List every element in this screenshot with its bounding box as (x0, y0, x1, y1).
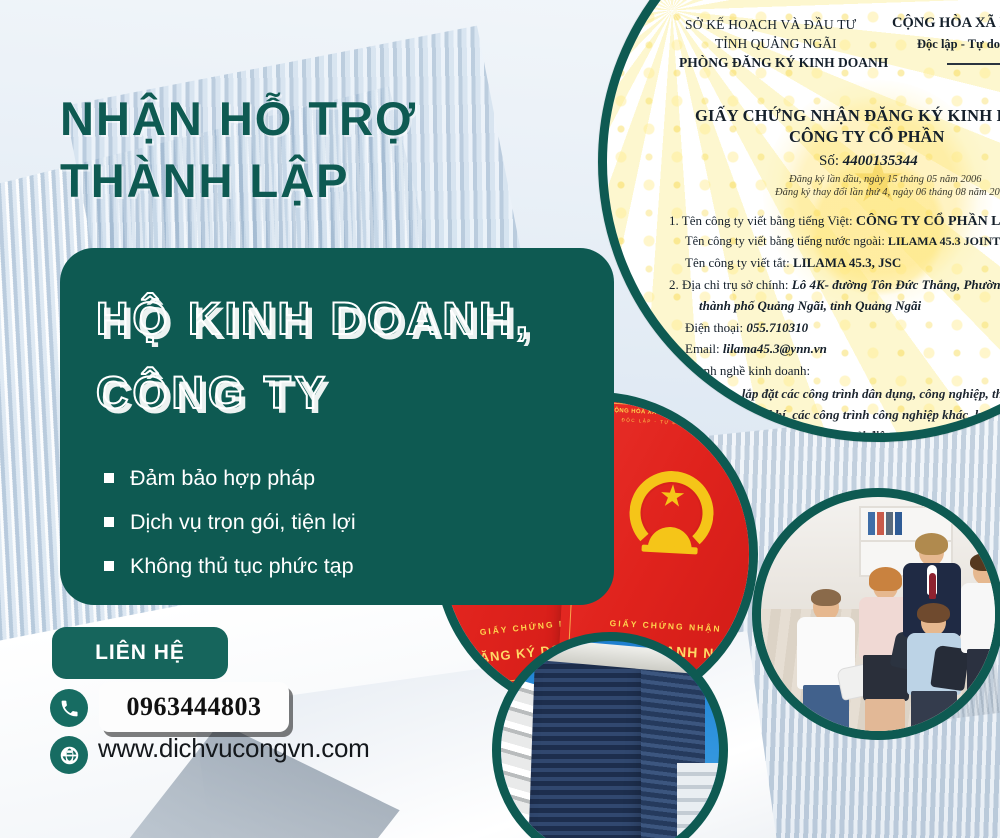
bullet-square-icon (104, 561, 114, 571)
certificate-item1b: Tên công ty viết bằng tiếng nước ngoài: … (685, 234, 1000, 249)
panel-title: HỘ KINH DOANH, CÔNG TY (96, 282, 532, 430)
certificate-item1: 1. Tên công ty viết bằng tiếng Việt: CÔN… (669, 213, 1000, 230)
certificate-title-line2: CÔNG TY CỔ PHẦN (789, 127, 944, 147)
certificate-item3-label: 3. Ngành nghề kinh doanh: (669, 363, 810, 379)
certificate-item2-value2: thành phố Quảng Ngãi, tỉnh Quảng Ngãi (699, 298, 921, 314)
panel-title-line-2: CÔNG TY (96, 356, 532, 430)
team-photo-circle (752, 488, 1000, 740)
tower-glass-facade (527, 655, 653, 838)
certificate-divider (947, 63, 1000, 65)
certificate-number: Số: 4400135344 (819, 153, 918, 170)
panel-title-line-1: HỘ KINH DOANH, (96, 282, 532, 356)
certificate-item1c: Tên công ty viết tắt: LILAMA 45.3, JSC (685, 255, 901, 271)
certificate-item2: 2. Địa chỉ trụ sở chính: Lô 4K- đường Tô… (669, 277, 1000, 293)
headline-line-2: THÀNH LẬP (60, 150, 417, 212)
headline-line-1: NHẬN HỖ TRỢ (60, 92, 417, 145)
certificate-department-line3: PHÒNG ĐĂNG KÝ KINH DOANH (679, 55, 888, 71)
list-item: Đảm bảo hợp pháp (104, 456, 356, 500)
website-url[interactable]: www.dichvucongvn.com (98, 733, 369, 764)
bullet-square-icon (104, 517, 114, 527)
certificate-title-line1: GIẤY CHỨNG NHẬN ĐĂNG KÝ KINH DOANH VÀ ĐĂ… (695, 106, 1000, 126)
certificate-phone-label: Điện thoại: (685, 320, 743, 335)
globe-icon (50, 736, 88, 774)
bullet-square-icon (104, 473, 114, 483)
certificate-email-value: lilama45.3@ynn.vn (723, 341, 827, 356)
certificate-change-registration: Đăng ký thay đổi lần thứ 4, ngày 06 thán… (775, 187, 1000, 198)
certificate-image-circle: ★ SỞ KẾ HOẠCH VÀ ĐẦU TƯ TỈNH QUẢNG NGÃI … (598, 0, 1000, 442)
certificate-department-line2: TỈNH QUẢNG NGÃI (715, 36, 836, 52)
certificate-first-registration: Đăng ký lần đầu, ngày 15 tháng 05 năm 20… (789, 174, 981, 185)
certificate-item2-value: Lô 4K- đường Tôn Đức Thắng, Phường Lê Hồ… (792, 277, 1000, 292)
list-item: Dịch vụ trọn gói, tiện lợi (104, 500, 356, 544)
certificate-item1c-label: Tên công ty viết tắt: (685, 255, 790, 270)
certificate-department-line1: SỞ KẾ HOẠCH VÀ ĐẦU TƯ (685, 17, 856, 33)
certificate-item1b-label: Tên công ty viết bằng tiếng nước ngoài: (685, 234, 885, 248)
certificate-phone: Điện thoại: 055.710310 (685, 320, 808, 336)
certificate-number-value: 4400135344 (843, 153, 918, 169)
list-item-label: Không thủ tục phức tạp (130, 544, 354, 588)
certificate-republic-line1: CỘNG HÒA XÃ HỘI CHỦ NGHĨA VIỆT NAM (892, 15, 1000, 32)
phone-number[interactable]: 0963444803 (99, 682, 289, 732)
shelf-book (868, 512, 875, 535)
certificate-item1-label: 1. Tên công ty viết bằng tiếng Việt: (669, 213, 853, 228)
tower-adjacent-building (677, 763, 723, 838)
benefits-list: Đảm bảo hợp pháp Dịch vụ trọn gói, tiện … (104, 456, 356, 588)
offer-panel: HỘ KINH DOANH, CÔNG TY Đảm bảo hợp pháp … (60, 248, 614, 605)
list-item-label: Đảm bảo hợp pháp (130, 456, 315, 500)
shelf-book (877, 512, 884, 535)
page-title: NHẬN HỖ TRỢ THÀNH LẬP (60, 88, 417, 212)
shelf-book (886, 512, 893, 535)
certificate-number-label: Số: (819, 153, 839, 169)
contact-button[interactable]: LIÊN HỆ (52, 627, 228, 679)
certificate-email: Email: lilama45.3@ynn.vn (685, 341, 827, 357)
certificate-phone-value: 055.710310 (746, 320, 808, 335)
certificate-item1-value: CÔNG TY CỔ PHẦN LILAMA 45.3 (856, 214, 1000, 229)
vietnam-emblem-icon: ★ (627, 469, 715, 557)
certificate-email-label: Email: (685, 341, 720, 356)
certificate-item1c-value: LILAMA 45.3, JSC (793, 255, 901, 270)
list-item: Không thủ tục phức tạp (104, 544, 356, 588)
certificate-item2-label: 2. Địa chỉ trụ sở chính: (669, 277, 789, 292)
list-item-label: Dịch vụ trọn gói, tiện lợi (130, 500, 356, 544)
promo-banner: ★ SỞ KẾ HOẠCH VÀ ĐẦU TƯ TỈNH QUẢNG NGÃI … (0, 0, 1000, 838)
shelf-book (895, 512, 902, 535)
phone-icon (50, 689, 88, 727)
certificate-republic-line2: Độc lập - Tự do - Hạnh phúc (917, 37, 1000, 52)
certificate-item1b-value: LILAMA 45.3 JOINT STOCK COMPANY (888, 234, 1000, 248)
